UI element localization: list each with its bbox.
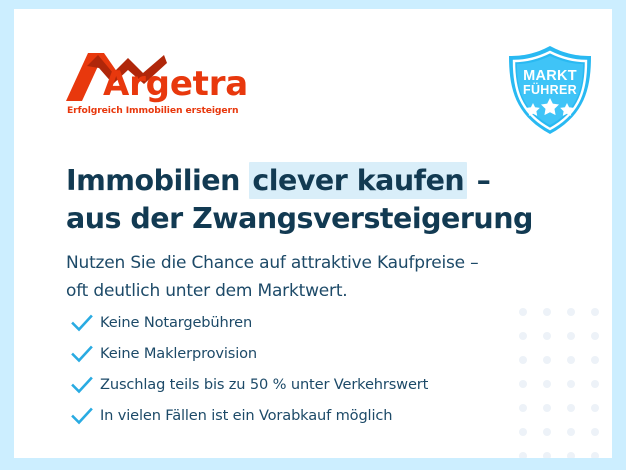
subheading: Nutzen Sie die Chance auf attraktive Kau…: [66, 249, 536, 305]
decorative-dot: [591, 332, 599, 340]
decorative-dot: [543, 428, 551, 436]
decorative-dot: [591, 356, 599, 364]
check-icon: [71, 375, 93, 395]
benefit-item: Keine Notargebühren: [71, 307, 541, 338]
logo-tagline: Erfolgreich Immobilien ersteigern: [67, 105, 238, 116]
check-icon: [71, 344, 93, 364]
subheading-line-1: Nutzen Sie die Chance auf attraktive Kau…: [66, 253, 478, 273]
decorative-dot: [543, 404, 551, 412]
headline: Immobilien clever kaufen – aus der Zwang…: [66, 162, 546, 238]
decorative-dot: [543, 380, 551, 388]
decorative-dot: [591, 428, 599, 436]
decorative-dot: [567, 380, 575, 388]
argetra-logo[interactable]: Argetra Erfolgreich Immobilien ersteiger…: [66, 53, 266, 119]
decorative-dot: [567, 308, 575, 316]
banner-card: Argetra Erfolgreich Immobilien ersteiger…: [14, 9, 612, 458]
decorative-dot: [567, 356, 575, 364]
decorative-dot: [567, 332, 575, 340]
benefit-item: In vielen Fällen ist ein Vorabkauf mögli…: [71, 400, 541, 431]
decorative-dot: [567, 452, 575, 458]
decorative-dot: [567, 404, 575, 412]
decorative-dot: [591, 452, 599, 458]
market-leader-badge: MARKT FÜHRER: [503, 43, 597, 137]
headline-line-1: Immobilien clever kaufen –: [66, 162, 490, 199]
check-icon: [71, 406, 93, 426]
benefit-label: Keine Notargebühren: [100, 313, 252, 333]
headline-line-2: aus der Zwangsversteigerung: [66, 202, 533, 235]
headline-prefix: Immobilien: [66, 164, 249, 197]
benefit-label: Zuschlag teils bis zu 50 % unter Verkehr…: [100, 375, 428, 395]
benefit-label: In vielen Fällen ist ein Vorabkauf mögli…: [100, 406, 392, 426]
decorative-dot: [591, 404, 599, 412]
benefit-item: Keine Maklerprovision: [71, 338, 541, 369]
decorative-dot: [543, 308, 551, 316]
decorative-dot: [591, 308, 599, 316]
headline-suffix: –: [467, 164, 490, 197]
shield-icon: [503, 43, 597, 137]
decorative-dot: [519, 452, 527, 458]
subheading-line-2: oft deutlich unter dem Marktwert.: [66, 281, 348, 301]
benefit-label: Keine Maklerprovision: [100, 344, 257, 364]
decorative-dot: [543, 356, 551, 364]
decorative-dot: [591, 380, 599, 388]
logo-wordmark: Argetra: [103, 67, 248, 101]
headline-highlight: clever kaufen: [249, 162, 467, 199]
benefit-item: Zuschlag teils bis zu 50 % unter Verkehr…: [71, 369, 541, 400]
benefits-list: Keine NotargebührenKeine Maklerprovision…: [71, 307, 541, 431]
promo-banner: Argetra Erfolgreich Immobilien ersteiger…: [0, 0, 626, 470]
decorative-dot: [543, 452, 551, 458]
decorative-dot: [543, 332, 551, 340]
decorative-dot: [567, 428, 575, 436]
check-icon: [71, 313, 93, 333]
